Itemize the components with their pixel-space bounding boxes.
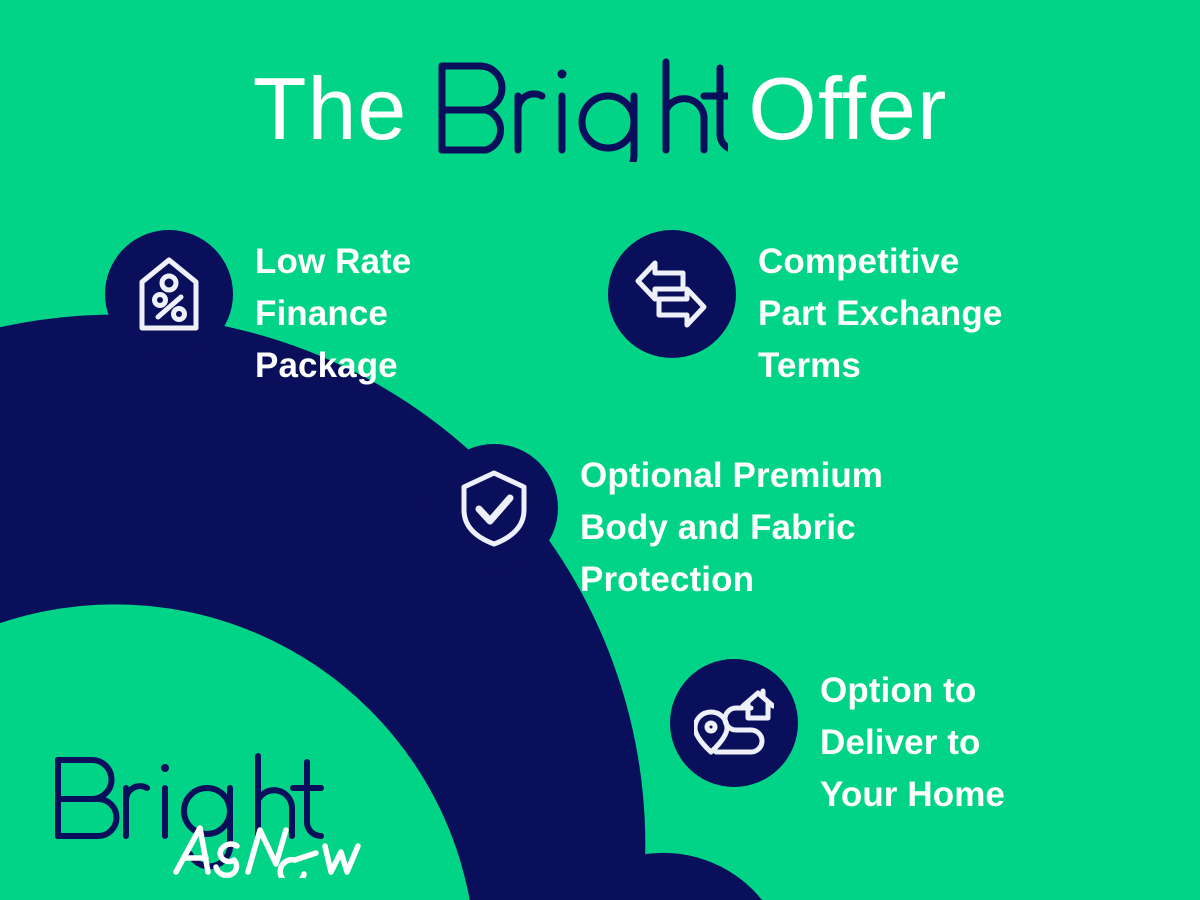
shield-check-icon <box>430 444 558 572</box>
feature-label: Low Rate Finance Package <box>255 230 411 391</box>
feature-label: Optional Premium Body and Fabric Protect… <box>580 444 883 605</box>
headline-brand-wordmark <box>428 52 728 166</box>
headline-prefix: The <box>253 65 408 153</box>
feature-home-delivery: Option to Deliver to Your Home <box>670 659 1005 820</box>
page-title: The <box>0 52 1200 166</box>
logo-secondary-wordmark <box>176 828 358 878</box>
feature-label: Option to Deliver to Your Home <box>820 659 1005 820</box>
headline-suffix: Offer <box>748 65 947 153</box>
exchange-arrows-icon <box>608 230 736 358</box>
delivery-route-home-icon <box>670 659 798 787</box>
bright-offer-poster: The <box>0 0 1200 900</box>
feature-label: Competitive Part Exchange Terms <box>758 230 1002 391</box>
feature-part-exchange: Competitive Part Exchange Terms <box>608 230 1002 391</box>
price-tag-percent-icon <box>105 230 233 358</box>
feature-body-fabric-protection: Optional Premium Body and Fabric Protect… <box>430 444 883 605</box>
brand-logo <box>48 748 378 878</box>
navy-wedge-shape <box>636 853 762 900</box>
bright-wordmark-svg <box>428 52 728 162</box>
feature-low-rate-finance: Low Rate Finance Package <box>105 230 411 391</box>
